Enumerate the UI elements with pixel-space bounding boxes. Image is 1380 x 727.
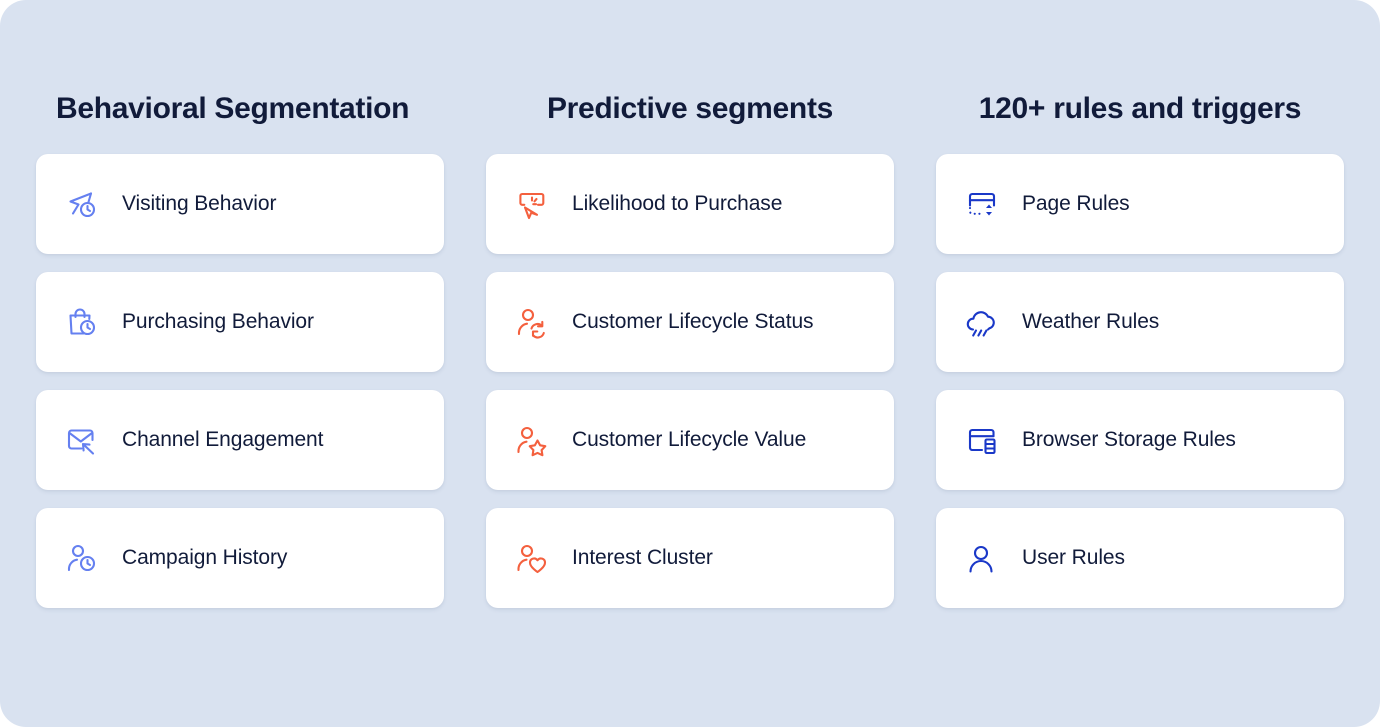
card-label: Channel Engagement	[122, 428, 323, 452]
click-target-cursor-icon	[510, 183, 552, 225]
person-clock-icon	[60, 537, 102, 579]
column-heading: 120+ rules and triggers	[936, 92, 1344, 154]
card-label: Browser Storage Rules	[1022, 428, 1236, 452]
card-label: Purchasing Behavior	[122, 310, 314, 334]
page-scroll-icon	[960, 183, 1002, 225]
person-heart-icon	[510, 537, 552, 579]
card-user-rules[interactable]: User Rules	[936, 508, 1344, 608]
card-label: Customer Lifecycle Value	[572, 428, 806, 452]
shopping-bag-clock-icon	[60, 301, 102, 343]
card-label: Interest Cluster	[572, 546, 713, 570]
card-likelihood-to-purchase[interactable]: Likelihood to Purchase	[486, 154, 894, 254]
user-icon	[960, 537, 1002, 579]
person-star-icon	[510, 419, 552, 461]
card-list: Page Rules Weather Rules	[936, 154, 1344, 608]
card-channel-engagement[interactable]: Channel Engagement	[36, 390, 444, 490]
card-label: Visiting Behavior	[122, 192, 276, 216]
column-predictive-segments: Predictive segments Likelihood to P	[486, 92, 894, 727]
card-label: Customer Lifecycle Status	[572, 310, 813, 334]
card-customer-lifecycle-value[interactable]: Customer Lifecycle Value	[486, 390, 894, 490]
envelope-cursor-icon	[60, 419, 102, 461]
card-list: Likelihood to Purchase Customer L	[486, 154, 894, 608]
card-customer-lifecycle-status[interactable]: Customer Lifecycle Status	[486, 272, 894, 372]
card-label: Page Rules	[1022, 192, 1130, 216]
rain-cloud-icon	[960, 301, 1002, 343]
card-label: User Rules	[1022, 546, 1125, 570]
card-list: Visiting Behavior Purchasing Behavior	[36, 154, 444, 608]
card-weather-rules[interactable]: Weather Rules	[936, 272, 1344, 372]
card-purchasing-behavior[interactable]: Purchasing Behavior	[36, 272, 444, 372]
card-page-rules[interactable]: Page Rules	[936, 154, 1344, 254]
column-heading: Predictive segments	[486, 92, 894, 154]
feature-panel: Behavioral Segmentation Visiting Behavio…	[0, 0, 1380, 727]
browser-storage-icon	[960, 419, 1002, 461]
card-campaign-history[interactable]: Campaign History	[36, 508, 444, 608]
columns-container: Behavioral Segmentation Visiting Behavio…	[0, 0, 1380, 727]
card-label: Campaign History	[122, 546, 287, 570]
column-rules-and-triggers: 120+ rules and triggers Page Rules	[936, 92, 1344, 727]
person-refresh-icon	[510, 301, 552, 343]
card-label: Weather Rules	[1022, 310, 1159, 334]
cursor-clock-icon	[60, 183, 102, 225]
column-behavioral-segmentation: Behavioral Segmentation Visiting Behavio…	[36, 92, 444, 727]
card-label: Likelihood to Purchase	[572, 192, 782, 216]
card-browser-storage-rules[interactable]: Browser Storage Rules	[936, 390, 1344, 490]
card-visiting-behavior[interactable]: Visiting Behavior	[36, 154, 444, 254]
card-interest-cluster[interactable]: Interest Cluster	[486, 508, 894, 608]
column-heading: Behavioral Segmentation	[36, 92, 444, 154]
